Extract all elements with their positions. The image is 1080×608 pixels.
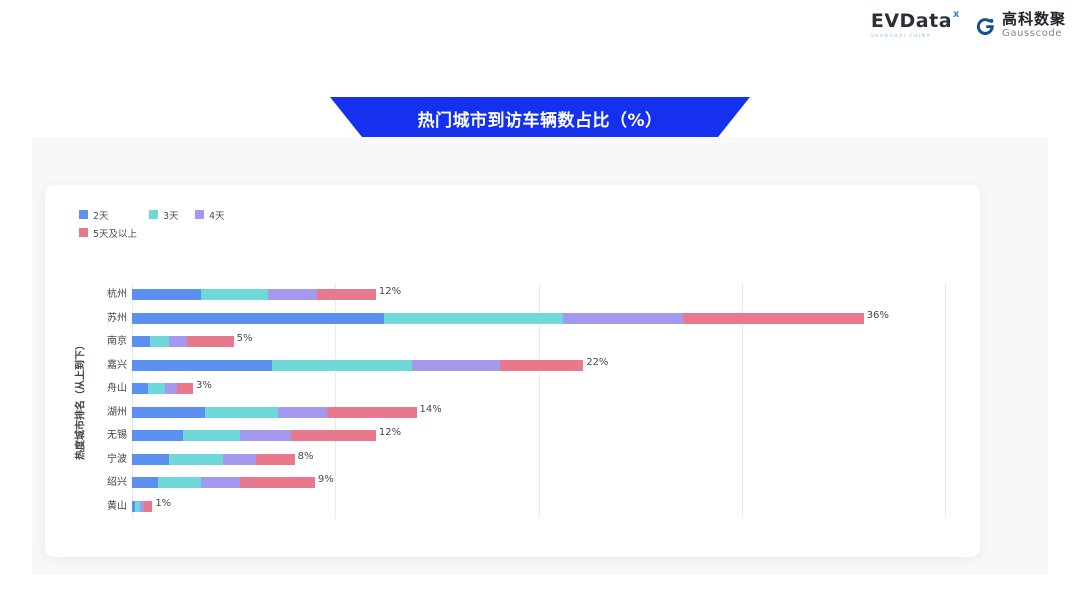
bar-segment-2天[interactable] [132, 477, 158, 488]
stacked-bar[interactable] [132, 336, 234, 347]
bar-segment-2天[interactable] [132, 360, 272, 371]
bar-value-label: 9% [315, 474, 334, 485]
bar-row-宁波[interactable]: 8% [132, 448, 945, 471]
bar-segment-2天[interactable] [132, 289, 201, 300]
bar-segment-4天[interactable] [165, 383, 177, 394]
bar-row-南京[interactable]: 5% [132, 330, 945, 353]
bar-segment-2天[interactable] [132, 336, 150, 347]
bar-value-label: 14% [417, 404, 442, 415]
bar-segment-4天[interactable] [201, 477, 240, 488]
bar-segment-2天[interactable] [132, 430, 183, 441]
bar-segment-4天[interactable] [223, 454, 256, 465]
stacked-bar[interactable] [132, 477, 315, 488]
bar-segment-3天[interactable] [201, 289, 268, 300]
bar-segment-3天[interactable] [384, 313, 563, 324]
stacked-bar[interactable] [132, 313, 864, 324]
bar-segment-3天[interactable] [148, 383, 164, 394]
bar-segment-3天[interactable] [169, 454, 224, 465]
bar-segment-5天及以上[interactable] [500, 360, 583, 371]
evdata-tagline: SHANGHAI CHINA [871, 34, 931, 39]
bar-value-label: 36% [864, 310, 889, 321]
bar-value-label: 1% [152, 498, 171, 509]
bar-row-黄山[interactable]: 1% [132, 495, 945, 518]
plot-area: 12%36%5%22%3%14%12%8%9%1% [132, 283, 945, 518]
stacked-bar[interactable] [132, 360, 583, 371]
bar-segment-4天[interactable] [268, 289, 317, 300]
evdata-logo: EVDatax SHANGHAI CHINA [871, 12, 960, 39]
bar-segment-5天及以上[interactable] [683, 313, 864, 324]
stacked-bar[interactable] [132, 383, 193, 394]
slide-title-banner: 热门城市到访车辆数占比（%） [330, 97, 750, 139]
evdata-wordmark: EVDatax [871, 12, 960, 31]
top-logo-bar: EVDatax SHANGHAI CHINA 高科数聚 Gausscode [0, 0, 1080, 62]
bar-segment-5天及以上[interactable] [256, 454, 295, 465]
bar-segment-4天[interactable] [169, 336, 187, 347]
gausscode-name-cn: 高科数聚 [1002, 12, 1066, 27]
gridline-40 [945, 283, 946, 518]
bar-row-湖州[interactable]: 14% [132, 401, 945, 424]
bar-segment-5天及以上[interactable] [240, 477, 315, 488]
bar-segment-5天及以上[interactable] [144, 501, 152, 512]
bar-row-舟山[interactable]: 3% [132, 377, 945, 400]
bar-segment-4天[interactable] [240, 430, 291, 441]
chart-card: 2天3天4天5天及以上 热度城市排名（从上到下） 杭州苏州南京嘉兴舟山湖州无锡宁… [45, 185, 980, 557]
bar-row-绍兴[interactable]: 9% [132, 471, 945, 494]
bar-row-无锡[interactable]: 12% [132, 424, 945, 447]
bar-segment-2天[interactable] [132, 313, 384, 324]
bar-value-label: 3% [193, 380, 212, 391]
evdata-superscript-x: x [953, 10, 960, 20]
evdata-name: EVData [871, 12, 952, 31]
stacked-bar[interactable] [132, 454, 295, 465]
bar-row-苏州[interactable]: 36% [132, 307, 945, 330]
bar-value-label: 12% [376, 286, 401, 297]
bar-segment-2天[interactable] [132, 383, 148, 394]
logo-group: EVDatax SHANGHAI CHINA 高科数聚 Gausscode [871, 12, 1066, 39]
gausscode-logo: 高科数聚 Gausscode [974, 12, 1066, 39]
bar-segment-5天及以上[interactable] [291, 430, 376, 441]
bar-row-杭州[interactable]: 12% [132, 283, 945, 306]
stacked-bar[interactable] [132, 289, 376, 300]
bar-segment-3天[interactable] [158, 477, 201, 488]
page-title: 热门城市到访车辆数占比（%） [417, 106, 662, 131]
bar-segment-3天[interactable] [272, 360, 412, 371]
gausscode-name-en: Gausscode [1002, 29, 1066, 39]
bar-segment-4天[interactable] [563, 313, 683, 324]
gausscode-mark-icon [974, 15, 996, 37]
bar-segment-5天及以上[interactable] [177, 383, 193, 394]
bar-segment-3天[interactable] [183, 430, 240, 441]
bar-segment-5天及以上[interactable] [317, 289, 376, 300]
bar-segment-2天[interactable] [132, 454, 169, 465]
bar-segment-3天[interactable] [205, 407, 278, 418]
gausscode-text: 高科数聚 Gausscode [1002, 12, 1066, 39]
stacked-bar[interactable] [132, 501, 152, 512]
bar-segment-3天[interactable] [150, 336, 168, 347]
bar-value-label: 12% [376, 427, 401, 438]
bar-value-label: 8% [295, 451, 314, 462]
bar-value-label: 5% [234, 333, 253, 344]
bar-segment-4天[interactable] [412, 360, 499, 371]
stacked-bar[interactable] [132, 407, 417, 418]
bar-segment-4天[interactable] [278, 407, 327, 418]
stacked-bar[interactable] [132, 430, 376, 441]
bar-row-嘉兴[interactable]: 22% [132, 354, 945, 377]
stacked-bar-chart: 12%36%5%22%3%14%12%8%9%1% [45, 185, 980, 557]
bar-segment-2天[interactable] [132, 407, 205, 418]
bar-segment-5天及以上[interactable] [187, 336, 234, 347]
bar-value-label: 22% [583, 357, 608, 368]
bar-segment-5天及以上[interactable] [327, 407, 416, 418]
